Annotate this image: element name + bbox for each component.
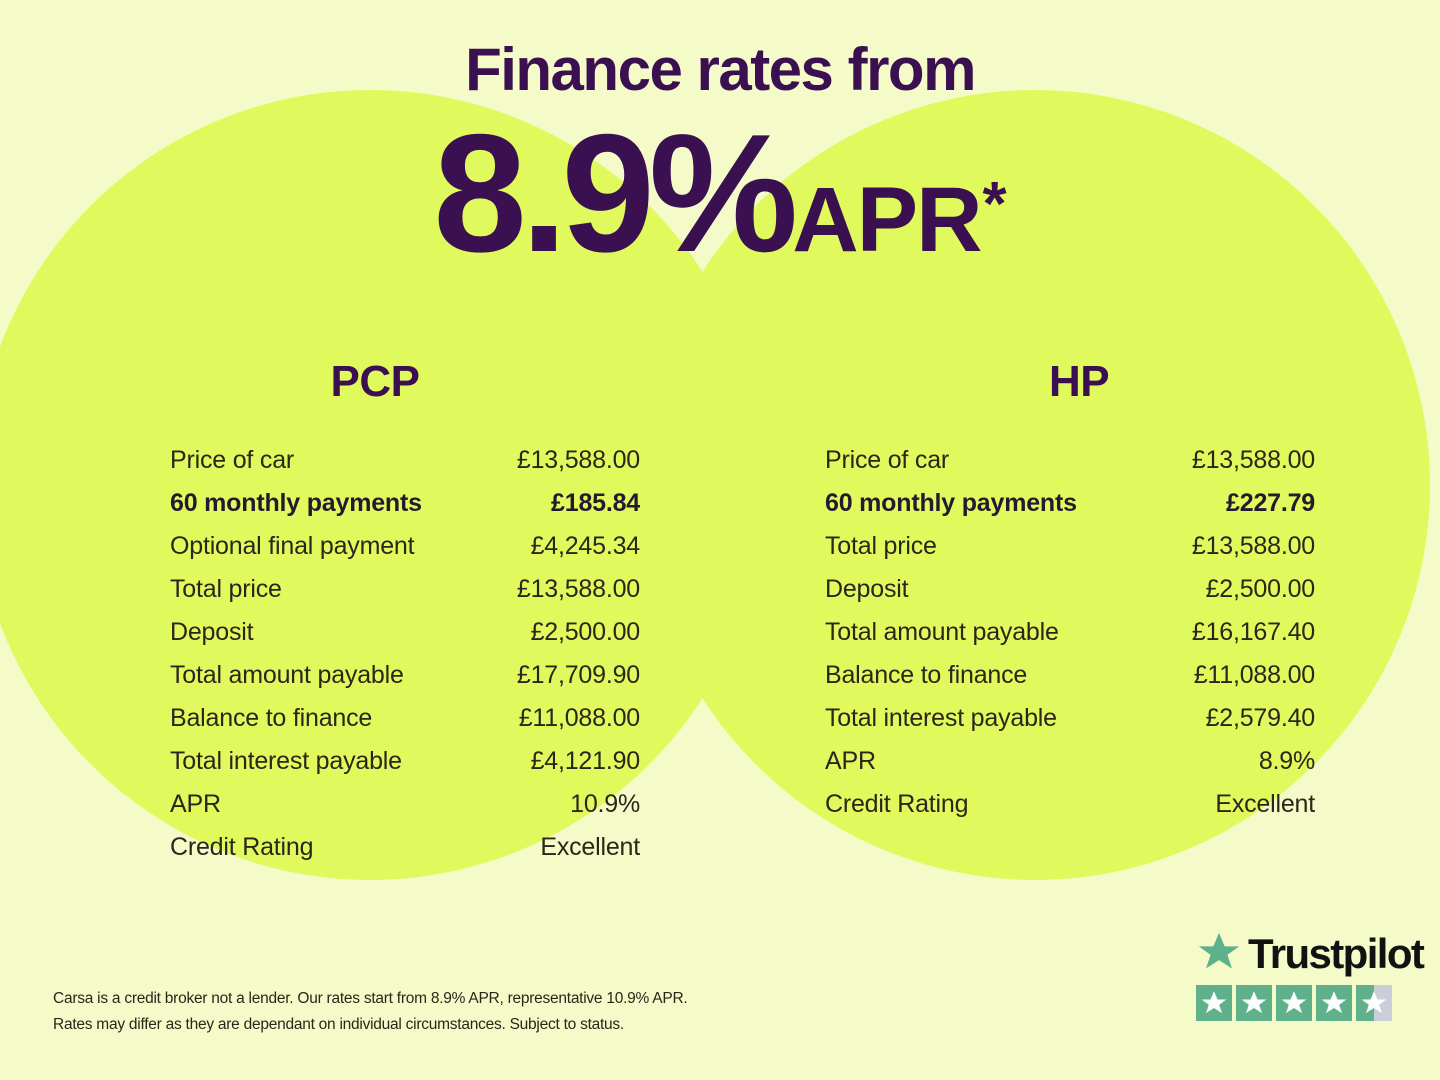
rate-suffix: APR [792, 169, 980, 271]
finance-rates-graphic: Finance rates from 8.9%APR* PCP Price of… [0, 0, 1440, 1080]
row-label: Total interest payable [170, 747, 402, 776]
trustpilot-rating: Trustpilot [1196, 930, 1423, 1021]
table-row: Total interest payable £4,121.90 [170, 747, 640, 790]
trustpilot-name: Trustpilot [1248, 933, 1423, 975]
row-label: APR [170, 790, 221, 819]
plan-title-pcp: PCP [110, 360, 640, 404]
row-value: £185.84 [551, 489, 640, 518]
row-value: £227.79 [1226, 489, 1315, 518]
table-row: Total price £13,588.00 [170, 575, 640, 618]
table-row: Total amount payable £16,167.40 [825, 618, 1315, 661]
row-value: £4,121.90 [531, 747, 640, 776]
row-label: Balance to finance [825, 661, 1027, 690]
row-label: Total price [170, 575, 282, 604]
row-label: Price of car [825, 446, 949, 475]
row-value: £16,167.40 [1192, 618, 1315, 647]
finance-comparison: PCP Price of car £13,588.00 60 monthly p… [0, 360, 1440, 876]
row-value: £13,588.00 [1192, 532, 1315, 561]
table-row: Total price £13,588.00 [825, 532, 1315, 575]
table-row: 60 monthly payments £227.79 [825, 489, 1315, 532]
star-icon [1196, 930, 1242, 979]
row-value: £2,500.00 [1206, 575, 1315, 604]
row-value: £2,579.40 [1206, 704, 1315, 733]
row-value: 10.9% [570, 790, 640, 819]
header: Finance rates from 8.9%APR* [0, 0, 1440, 274]
row-value: 8.9% [1259, 747, 1315, 776]
table-row: Balance to finance £11,088.00 [825, 661, 1315, 704]
row-label: APR [825, 747, 876, 776]
trustpilot-stars [1196, 985, 1423, 1021]
row-value: £13,588.00 [1192, 446, 1315, 475]
row-label: Deposit [170, 618, 253, 647]
row-value: £13,588.00 [517, 575, 640, 604]
rate-value: 8.9% [433, 99, 792, 287]
trustpilot-logo: Trustpilot [1196, 930, 1423, 978]
table-row: Deposit £2,500.00 [170, 618, 640, 661]
table-row: Price of car £13,588.00 [825, 446, 1315, 489]
star-icon-5-half [1356, 985, 1392, 1021]
row-value: £11,088.00 [1194, 661, 1315, 690]
row-label: 60 monthly payments [170, 489, 422, 518]
row-value: £4,245.34 [531, 532, 640, 561]
row-label: Deposit [825, 575, 908, 604]
row-value: Excellent [540, 833, 640, 862]
plan-title-hp: HP [843, 360, 1315, 404]
star-icon-4 [1316, 985, 1352, 1021]
row-label: Total interest payable [825, 704, 1057, 733]
row-label: Balance to finance [170, 704, 372, 733]
rate-asterisk: * [983, 170, 1007, 239]
row-label: Credit Rating [170, 833, 313, 862]
table-row: APR 8.9% [825, 747, 1315, 790]
row-label: Optional final payment [170, 532, 414, 561]
row-label: Total price [825, 532, 937, 561]
row-value: £2,500.00 [531, 618, 640, 647]
table-row: Price of car £13,588.00 [170, 446, 640, 489]
plan-rows-hp: Price of car £13,588.00 60 monthly payme… [825, 446, 1315, 833]
row-label: Total amount payable [170, 661, 404, 690]
row-value: £13,588.00 [517, 446, 640, 475]
table-row: Optional final payment £4,245.34 [170, 532, 640, 575]
plan-rows-pcp: Price of car £13,588.00 60 monthly payme… [170, 446, 640, 876]
disclaimer-line-1: Carsa is a credit broker not a lender. O… [53, 986, 813, 1012]
row-value: £17,709.90 [517, 661, 640, 690]
headline-rate: 8.9%APR* [0, 100, 1440, 274]
row-value: Excellent [1215, 790, 1315, 819]
row-value: £11,088.00 [519, 704, 640, 733]
table-row: Credit Rating Excellent [170, 833, 640, 876]
row-label: 60 monthly payments [825, 489, 1077, 518]
plan-hp: HP Price of car £13,588.00 60 monthly pa… [720, 360, 1440, 876]
disclaimer-line-2: Rates may differ as they are dependant o… [53, 1012, 813, 1038]
page-title: Finance rates from [0, 0, 1440, 100]
table-row: Credit Rating Excellent [825, 790, 1315, 833]
table-row: APR 10.9% [170, 790, 640, 833]
row-label: Price of car [170, 446, 294, 475]
plan-pcp: PCP Price of car £13,588.00 60 monthly p… [0, 360, 720, 876]
table-row: Deposit £2,500.00 [825, 575, 1315, 618]
row-label: Credit Rating [825, 790, 968, 819]
table-row: Balance to finance £11,088.00 [170, 704, 640, 747]
star-icon-2 [1236, 985, 1272, 1021]
table-row: Total interest payable £2,579.40 [825, 704, 1315, 747]
row-label: Total amount payable [825, 618, 1059, 647]
star-icon-1 [1196, 985, 1232, 1021]
disclaimer: Carsa is a credit broker not a lender. O… [53, 986, 813, 1037]
star-icon-3 [1276, 985, 1312, 1021]
table-row: Total amount payable £17,709.90 [170, 661, 640, 704]
table-row: 60 monthly payments £185.84 [170, 489, 640, 532]
